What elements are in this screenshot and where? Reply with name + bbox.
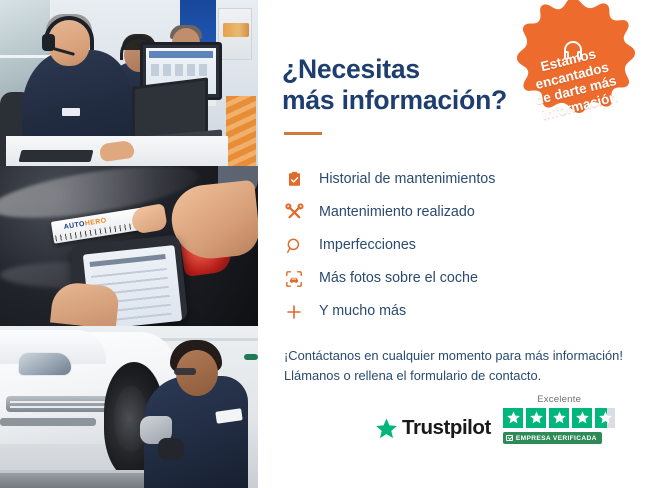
rating-label: Excelente — [537, 394, 581, 405]
trustpilot-score-block: Excelente — [503, 394, 616, 445]
keyboard — [19, 150, 94, 162]
feature-label: Imperfecciones — [319, 237, 416, 254]
verified-label: EMPRESA VERIFICADA — [516, 435, 597, 442]
mechanic-glasses — [174, 368, 196, 375]
photo-column: AUTOHERO — [0, 0, 258, 488]
feature-label: Y mucho más — [319, 303, 406, 320]
trustpilot-wordmark: Trustpilot — [402, 416, 491, 440]
feature-item-more-photos: Más fotos sobre el coche — [284, 262, 626, 295]
star-filled — [503, 408, 524, 429]
trustpilot-star-icon — [375, 417, 398, 440]
feature-item-imperfections: Imperfecciones — [284, 229, 626, 262]
verified-company-badge: EMPRESA VERIFICADA — [503, 432, 602, 444]
mechanic-wheel-photo — [0, 326, 258, 488]
car-grille — [6, 396, 110, 412]
check-box-icon — [506, 435, 513, 442]
star-filled — [549, 408, 570, 429]
tools-cross-icon — [284, 203, 304, 223]
star-partial — [595, 408, 616, 429]
page-title: ¿Necesitas más información? — [282, 54, 532, 116]
trustpilot-rating[interactable]: Trustpilot Excelente — [375, 394, 615, 445]
star-filled — [572, 408, 593, 429]
clipboard-check-glyph — [286, 171, 303, 188]
magnifier-icon — [284, 236, 304, 256]
title-underline-divider — [284, 132, 322, 135]
feature-item-maintenance-done: Mantenimiento realizado — [284, 196, 626, 229]
car-headlight — [18, 352, 72, 376]
contact-footnote: ¡Contáctanos en cualquier momento para m… — [284, 346, 626, 387]
plus-icon — [284, 302, 304, 322]
feature-label: Más fotos sobre el coche — [319, 270, 478, 287]
car-in-frame-glyph — [285, 270, 303, 288]
promo-starburst-badge: Estamos encantados de darte más informac… — [501, 0, 645, 146]
orange-shelf — [226, 96, 256, 166]
content-panel: ¿Necesitas más información? Estamos enca… — [258, 0, 650, 488]
green-hose — [244, 354, 258, 360]
car-inspection-ruler-photo: AUTOHERO — [0, 166, 258, 326]
trustpilot-logo[interactable]: Trustpilot — [375, 416, 491, 444]
plus-glyph — [285, 303, 303, 321]
feature-list: Historial de mantenimientos Mantenimient… — [284, 163, 626, 328]
star-rating — [503, 408, 616, 429]
wall-poster — [218, 8, 252, 60]
feature-item-maintenance-history: Historial de mantenimientos — [284, 163, 626, 196]
wrench-screwdriver-glyph — [285, 203, 304, 222]
magnifier-glyph — [285, 237, 303, 255]
call-centre-agents-photo — [0, 0, 258, 166]
star-filled — [526, 408, 547, 429]
feature-label: Mantenimiento realizado — [319, 204, 475, 221]
info-banner: AUTOHERO — [0, 0, 650, 488]
car-lift-platform — [0, 470, 150, 488]
feature-item-much-more: Y mucho más — [284, 295, 626, 328]
feature-label: Historial de mantenimientos — [319, 171, 495, 188]
ruler-logo-text: AUTOHERO — [63, 217, 107, 231]
agent-1-name-badge — [62, 108, 80, 116]
clipboard-check-icon — [284, 170, 304, 190]
mechanic-glove-dark — [158, 438, 184, 460]
car-lower-trim — [0, 418, 96, 426]
car-frame-icon — [284, 269, 304, 289]
